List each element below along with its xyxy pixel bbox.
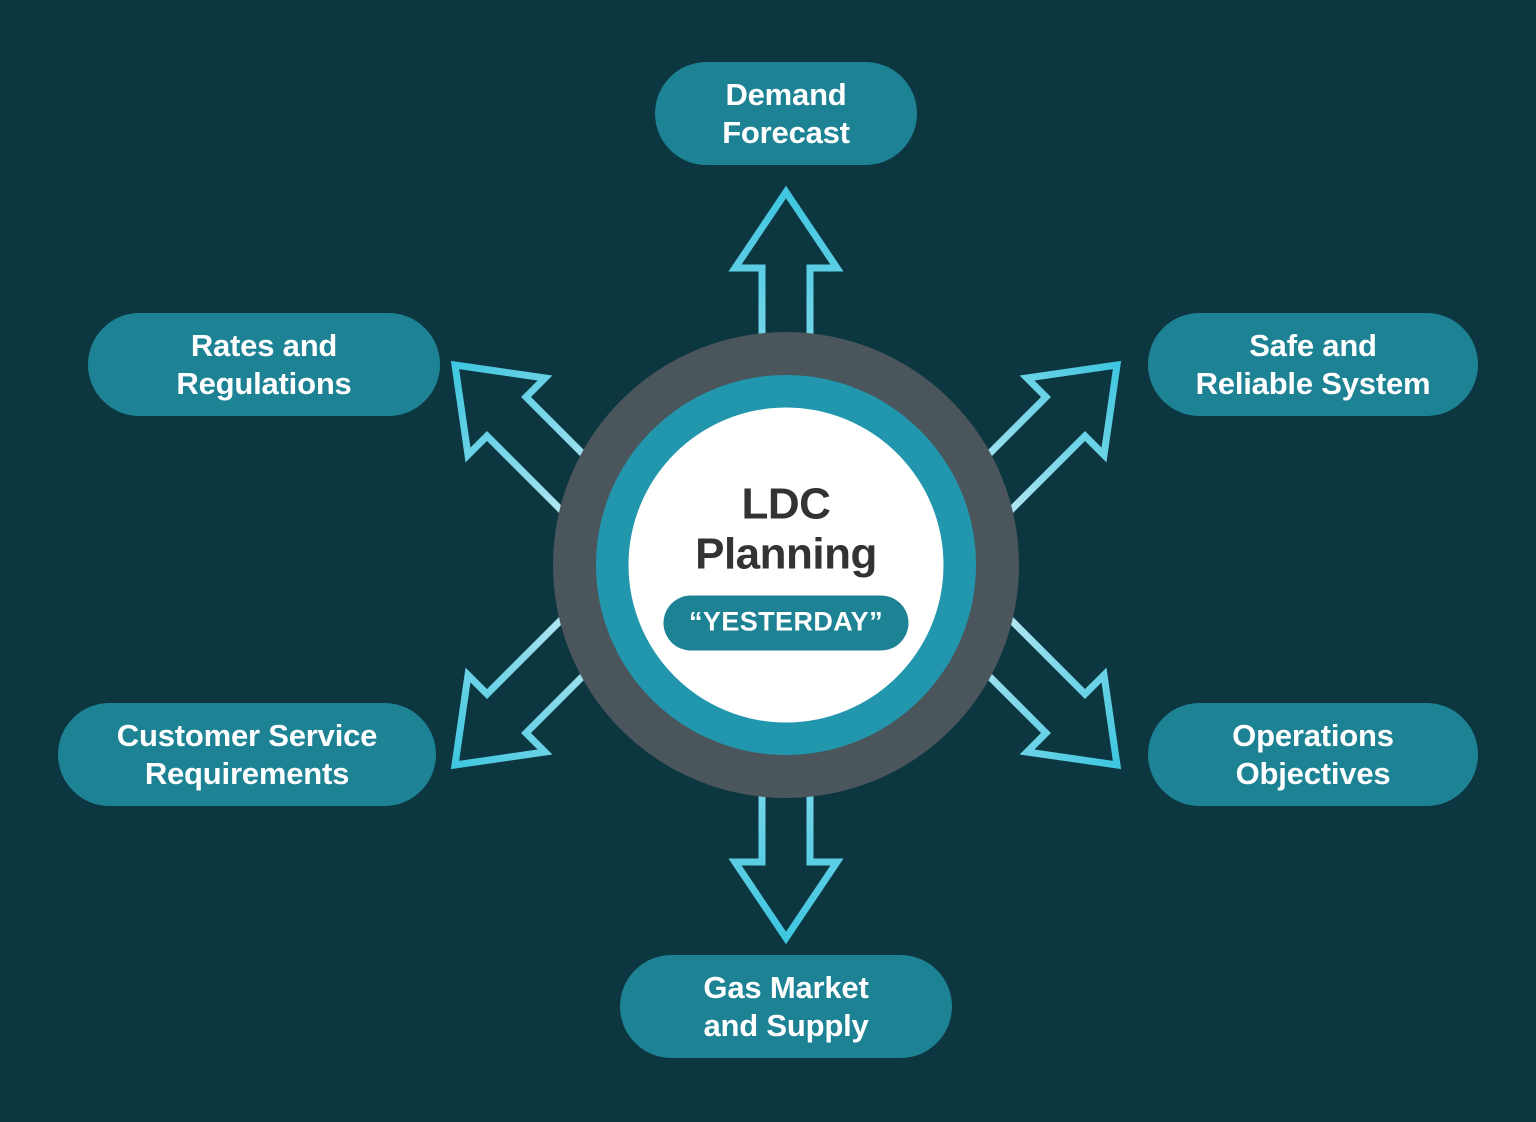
node-label-line-2: Regulations bbox=[176, 365, 351, 402]
node-customer-service-requirements[interactable]: Customer Service Requirements bbox=[58, 703, 436, 806]
node-label-line-2: Objectives bbox=[1236, 755, 1391, 792]
node-label-line-1: Rates and bbox=[191, 327, 337, 364]
node-gas-market-and-supply[interactable]: Gas Market and Supply bbox=[620, 955, 952, 1058]
node-label-line-2: Requirements bbox=[145, 755, 349, 792]
node-label-line-1: Gas Market bbox=[703, 969, 868, 1006]
node-safe-reliable-system[interactable]: Safe and Reliable System bbox=[1148, 313, 1478, 416]
hub-title: LDC Planning bbox=[695, 480, 877, 579]
diagram-canvas: LDC Planning “YESTERDAY” Demand Forecast… bbox=[0, 0, 1536, 1122]
hub-title-line-1: LDC bbox=[695, 480, 877, 530]
node-label-line-1: Safe and bbox=[1249, 327, 1377, 364]
node-label-line-2: and Supply bbox=[703, 1007, 868, 1044]
node-label-line-2: Forecast bbox=[722, 114, 850, 151]
node-operations-objectives[interactable]: Operations Objectives bbox=[1148, 703, 1478, 806]
node-demand-forecast[interactable]: Demand Forecast bbox=[655, 62, 917, 165]
node-label-line-1: Customer Service bbox=[117, 717, 377, 754]
node-label-line-2: Reliable System bbox=[1196, 365, 1431, 402]
hub-core: LDC Planning “YESTERDAY” bbox=[629, 408, 944, 723]
node-label-line-1: Operations bbox=[1232, 717, 1394, 754]
node-label-line-1: Demand bbox=[725, 76, 846, 113]
hub-title-line-2: Planning bbox=[695, 530, 877, 580]
hub-badge: “YESTERDAY” bbox=[663, 595, 909, 650]
node-rates-and-regulations[interactable]: Rates and Regulations bbox=[88, 313, 440, 416]
